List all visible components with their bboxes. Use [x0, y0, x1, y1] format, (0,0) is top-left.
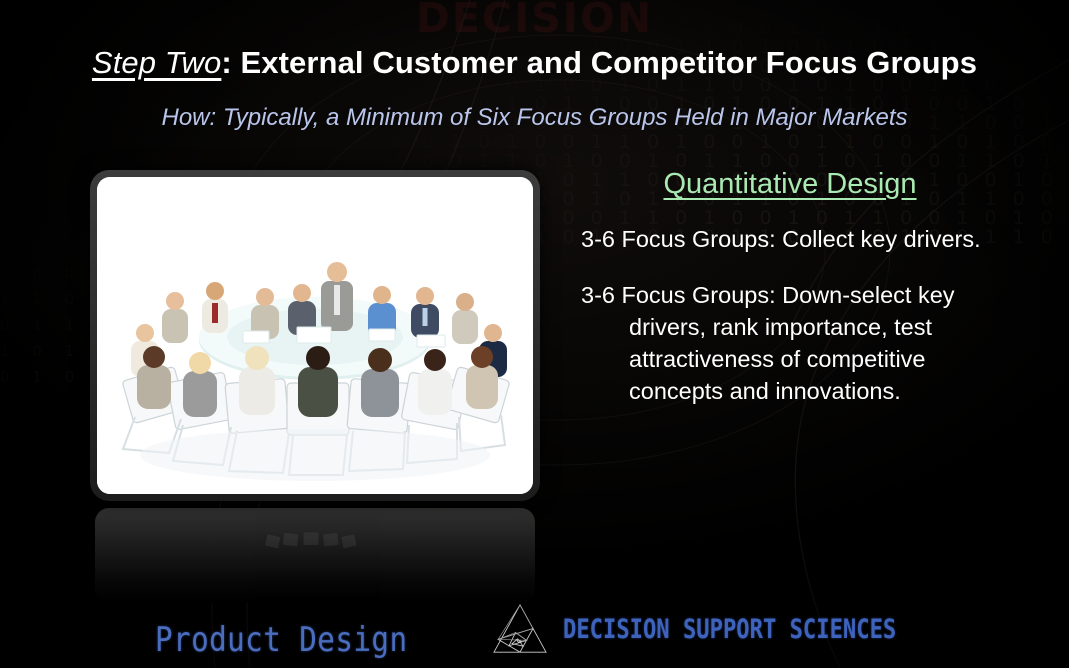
background-watermark-text: DECISION: [0, 0, 1069, 42]
slide-title: Step Two: External Customer and Competit…: [0, 45, 1069, 81]
nested-triangle-spiral-icon: [491, 602, 549, 656]
bullet-item-2: 3-6 Focus Groups: Down-select key driver…: [575, 279, 1005, 407]
bullet-item-1: 3-6 Focus Groups: Collect key drivers.: [575, 223, 1005, 255]
slide-title-rest: : External Customer and Competitor Focus…: [221, 45, 977, 80]
company-logo: DECISION SUPPORT SCIENCES: [491, 602, 969, 656]
photo-image: [97, 177, 533, 494]
quantitative-design-heading: Quantitative Design: [575, 168, 1005, 201]
photo-reflection: [95, 508, 535, 603]
right-content-column: Quantitative Design 3-6 Focus Groups: Co…: [575, 168, 1005, 431]
slide-subtitle: How: Typically, a Minimum of Six Focus G…: [0, 104, 1069, 132]
slide-title-step-label: Step Two: [92, 45, 221, 80]
footer-product-design-label: Product Design: [155, 620, 407, 660]
photo-frame: [90, 170, 540, 501]
company-name-text: DECISION SUPPORT SCIENCES: [563, 614, 896, 645]
presentation-slide: 0 1 0 0 1 0 1 1 0 0 1 0 1 0 0 1 1 0 1 0 …: [0, 0, 1069, 668]
